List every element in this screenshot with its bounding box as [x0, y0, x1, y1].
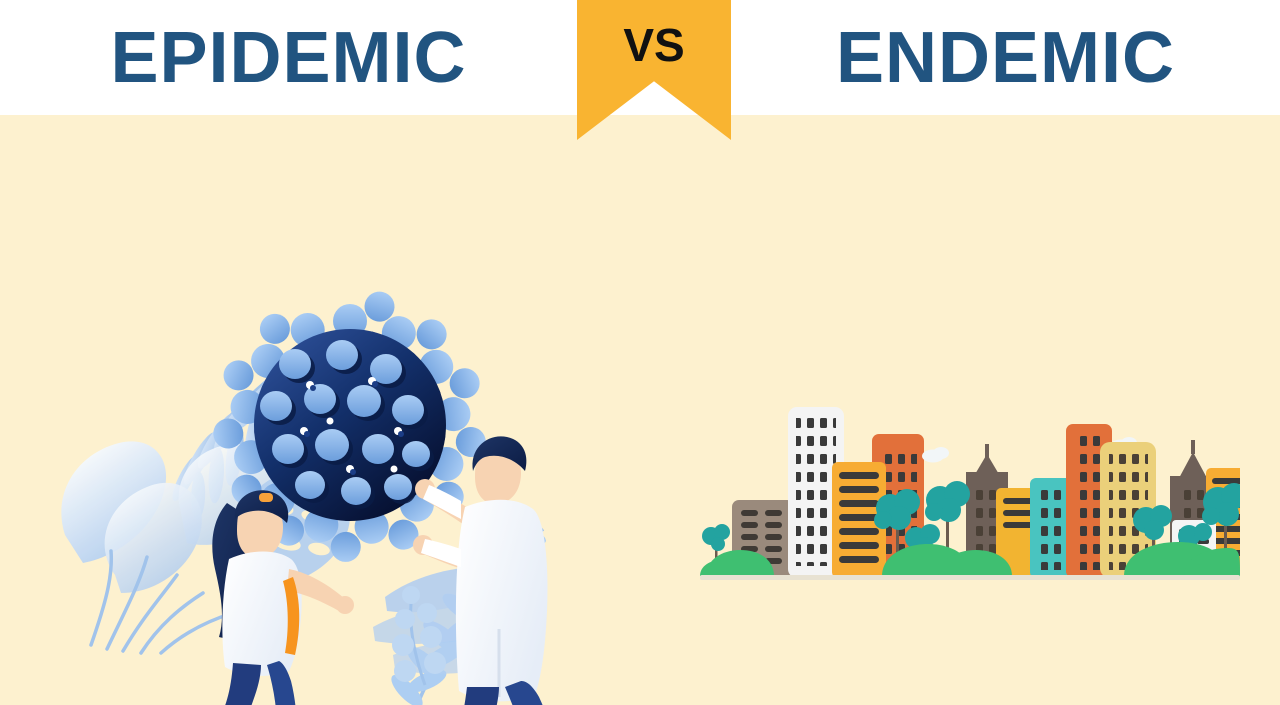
page-title-endemic: ENDEMIC [731, 12, 1280, 104]
ground-strip [700, 575, 1240, 580]
cloud-left [922, 447, 949, 463]
page-title-epidemic: EPIDEMIC [0, 12, 577, 104]
endemic-panel [640, 115, 1280, 705]
slide-canvas: EPIDEMIC ENDEMIC VS [0, 0, 1280, 705]
epidemic-illustration [55, 245, 615, 705]
epidemic-panel [0, 115, 640, 705]
endemic-city-illustration [700, 360, 1240, 600]
vs-label: VS [623, 18, 684, 72]
